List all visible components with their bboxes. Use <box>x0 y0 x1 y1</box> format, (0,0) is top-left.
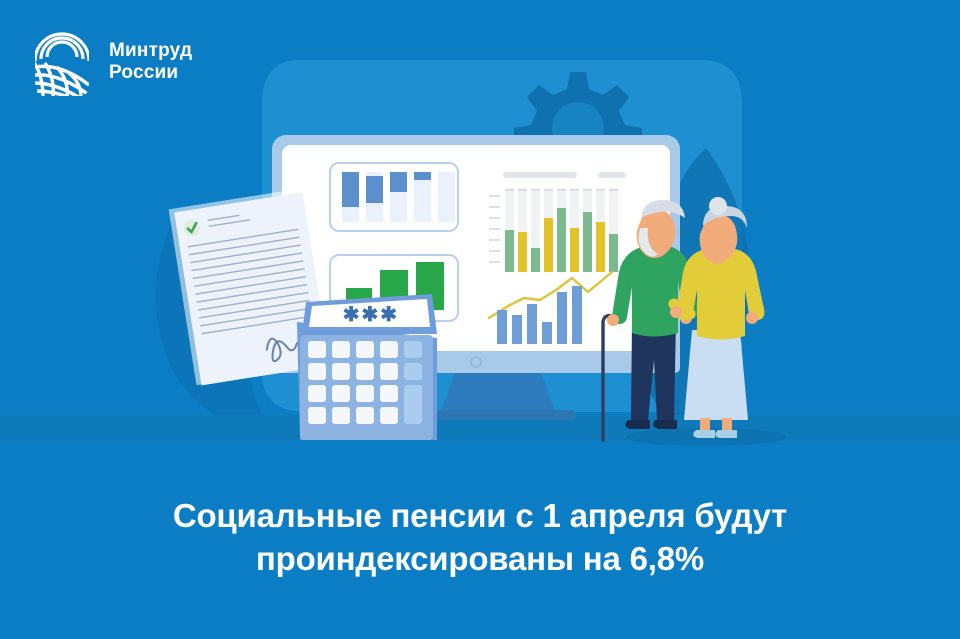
hand <box>746 312 758 324</box>
headline-line-1: Социальные пенсии с 1 апреля будут <box>90 495 870 538</box>
bar <box>542 322 552 344</box>
elderly-woman <box>670 197 764 438</box>
headline: Социальные пенсии с 1 апреля будут проин… <box>0 495 960 581</box>
column-group <box>505 188 618 272</box>
bar <box>342 172 359 207</box>
monitor-stand-base <box>420 410 576 420</box>
shoe <box>625 420 650 429</box>
legend-item <box>503 172 577 178</box>
skirt <box>684 330 748 420</box>
monitor-stand <box>440 372 556 414</box>
calculator: ✱✱✱ <box>297 294 437 440</box>
ministry-emblem-icon <box>31 27 93 97</box>
bar <box>414 172 431 180</box>
leg <box>722 418 732 432</box>
legend-item <box>598 172 626 178</box>
shoe <box>715 430 737 438</box>
bar <box>390 172 407 192</box>
logo-text: Минтруд России <box>109 40 192 85</box>
leg <box>700 418 710 432</box>
bar <box>557 292 567 344</box>
bar <box>572 286 582 344</box>
hand <box>607 314 619 326</box>
bar <box>497 310 507 344</box>
hand <box>670 306 682 318</box>
shoe <box>693 430 715 438</box>
bar <box>527 304 537 344</box>
shoe <box>653 420 677 429</box>
calculator-display-value: ✱✱✱ <box>343 304 399 326</box>
logo: Минтруд России <box>31 27 192 97</box>
bar <box>512 315 522 344</box>
infographic-poster: ✱✱✱ <box>0 0 960 639</box>
headline-line-2: проиндексированы на 6,8% <box>90 538 870 581</box>
screen-card-blue-floating-bars <box>330 163 458 231</box>
bar-track <box>438 172 455 222</box>
emblem-arcs <box>31 27 93 97</box>
hair-bun <box>709 197 727 215</box>
bar <box>366 176 383 203</box>
